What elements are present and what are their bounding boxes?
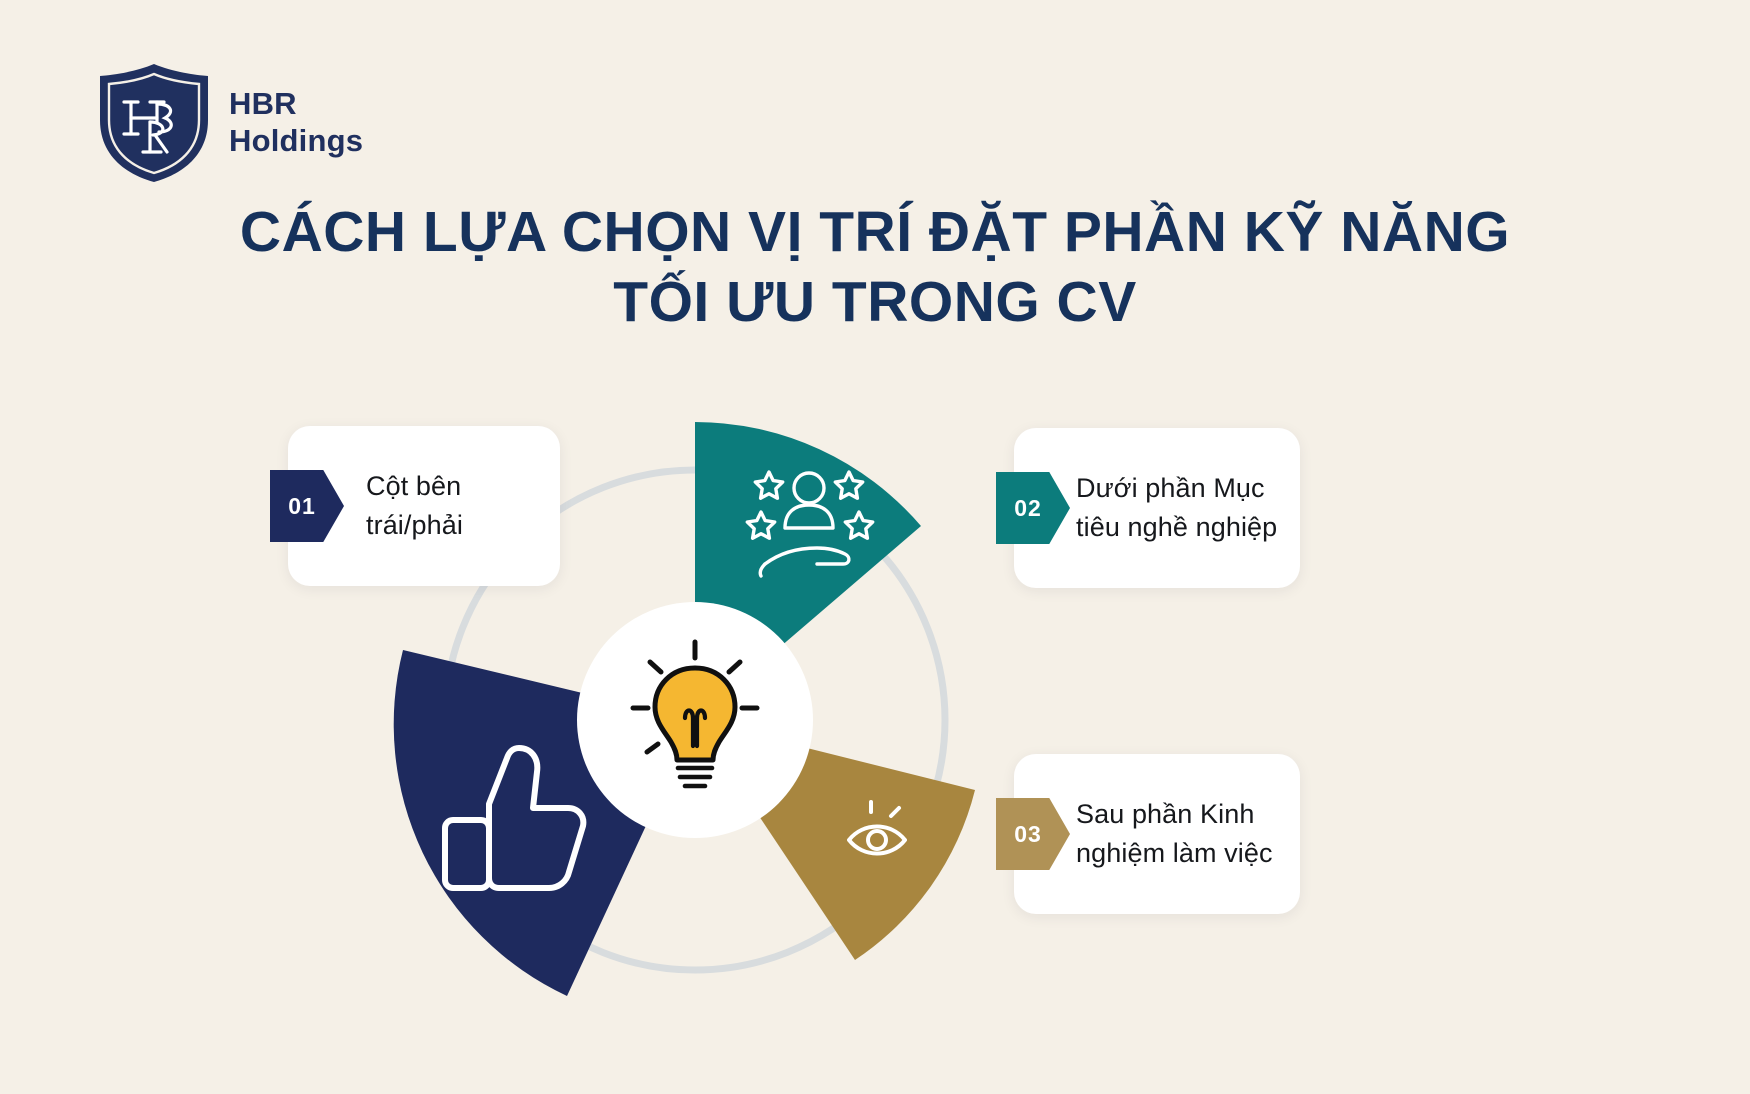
card-02-line1: Dưới phần Mục <box>1076 469 1277 508</box>
number-badge-03-label: 03 <box>1014 821 1042 848</box>
card-03-line1: Sau phần Kinh <box>1076 795 1273 834</box>
infographic-canvas: HBR Holdings CÁCH LỰA CHỌN VỊ TRÍ ĐẶT PH… <box>0 0 1750 1094</box>
card-01-line2: trái/phải <box>366 506 463 545</box>
info-card-01-text: Cột bên trái/phải <box>366 467 463 545</box>
info-card-03-text: Sau phần Kinh nghiệm làm việc <box>1076 795 1273 873</box>
card-01-line1: Cột bên <box>366 467 463 506</box>
number-badge-02-label: 02 <box>1014 495 1042 522</box>
number-badge-01-label: 01 <box>288 493 316 520</box>
card-02-line2: tiêu nghề nghiệp <box>1076 508 1277 547</box>
info-card-02-text: Dưới phần Mục tiêu nghề nghiệp <box>1076 469 1277 547</box>
card-03-line2: nghiệm làm việc <box>1076 834 1273 873</box>
